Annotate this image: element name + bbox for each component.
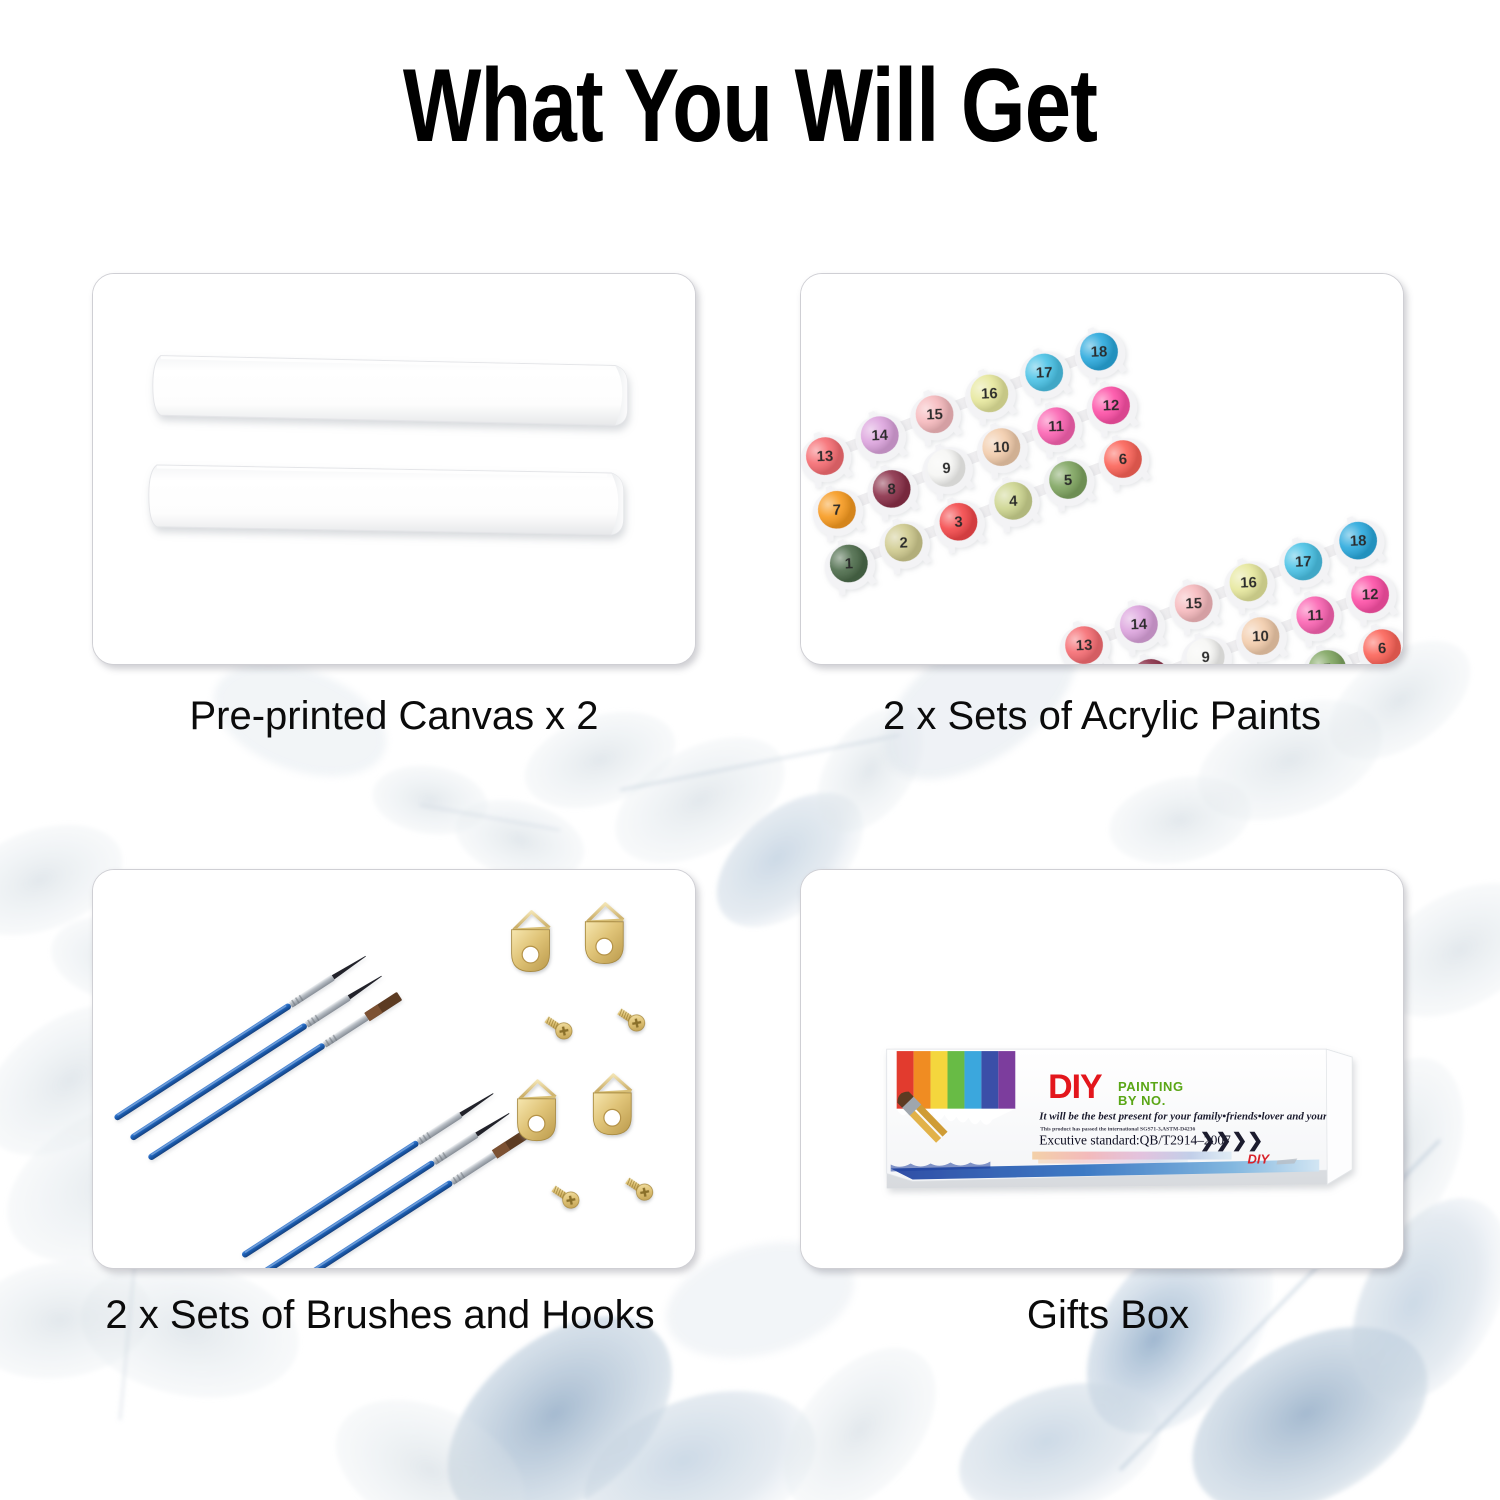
card-gifts-box: DIY PAINTING BY NO. It will be the best … [800,869,1404,1269]
paint-pot-number-16: 16 [1240,574,1257,592]
paint-pot-number-7: 7 [832,502,841,519]
gift-box-subtitle-1: PAINTING [1118,1079,1184,1094]
paint-pot-number-6: 6 [1118,451,1127,468]
paint-pot-number-5: 5 [1064,472,1073,489]
card-brushes-and-hooks [92,869,696,1269]
caption-brushes-and-hooks: 2 x Sets of Brushes and Hooks [105,1293,654,1338]
canvas-roll-1 [153,356,627,426]
caption-pre-printed-canvas: Pre-printed Canvas x 2 [189,694,598,739]
paint-pot-number-9: 9 [1201,649,1210,664]
paint-pot-number-12: 12 [1102,397,1119,415]
paint-pot-number-18: 18 [1350,532,1367,550]
gift-box-tagline: It will be the best present for your fam… [1038,1111,1344,1123]
paint-pot-number-1: 1 [844,555,853,572]
gift-box-subtitle-2: BY NO. [1118,1093,1166,1108]
paint-pot-number-2: 2 [899,534,908,551]
gift-box-corner-logo: DIY [1248,1152,1271,1167]
paint-pot-number-8: 8 [887,481,896,498]
paint-pot-number-17: 17 [1295,553,1312,571]
paint-pot-number-12: 12 [1362,586,1379,604]
card-pre-printed-canvas [92,273,696,665]
paint-pot-number-10: 10 [1252,628,1269,646]
gift-box-brand: DIY [1048,1068,1103,1106]
paint-pot-number-3: 3 [954,514,963,531]
paint-pot-number-13: 13 [1075,637,1092,655]
paint-pot-number-15: 15 [926,406,943,424]
gift-box: DIY PAINTING BY NO. It will be the best … [887,1049,1352,1188]
paint-pot-number-15: 15 [1185,595,1202,613]
gift-box-chevrons: ❯❯❯❯ [1200,1131,1263,1152]
paint-pot-number-4: 4 [1009,493,1019,510]
paint-pot-number-11: 11 [1307,607,1323,625]
caption-acrylic-paints: 2 x Sets of Acrylic Paints [883,694,1321,739]
paint-pot-number-13: 13 [816,448,833,466]
paint-pot-number-16: 16 [981,385,998,403]
page-title: What You Will Get [150,54,1350,158]
paint-pot-number-11: 11 [1048,418,1064,436]
paint-pot-number-10: 10 [993,439,1010,457]
caption-gifts-box: Gifts Box [1027,1293,1189,1338]
paint-pot-number-17: 17 [1036,364,1053,382]
paint-pot-number-14: 14 [1130,616,1148,634]
canvas-roll-2 [149,465,623,535]
paint-pot-number-5: 5 [1323,661,1332,664]
paint-pot-number-14: 14 [871,427,889,445]
paint-pot-number-9: 9 [942,460,951,477]
paint-pot-number-6: 6 [1378,640,1387,657]
paint-pot-number-18: 18 [1090,343,1107,361]
card-acrylic-paints: 1234567891011121314151617181234567891011… [800,273,1404,665]
